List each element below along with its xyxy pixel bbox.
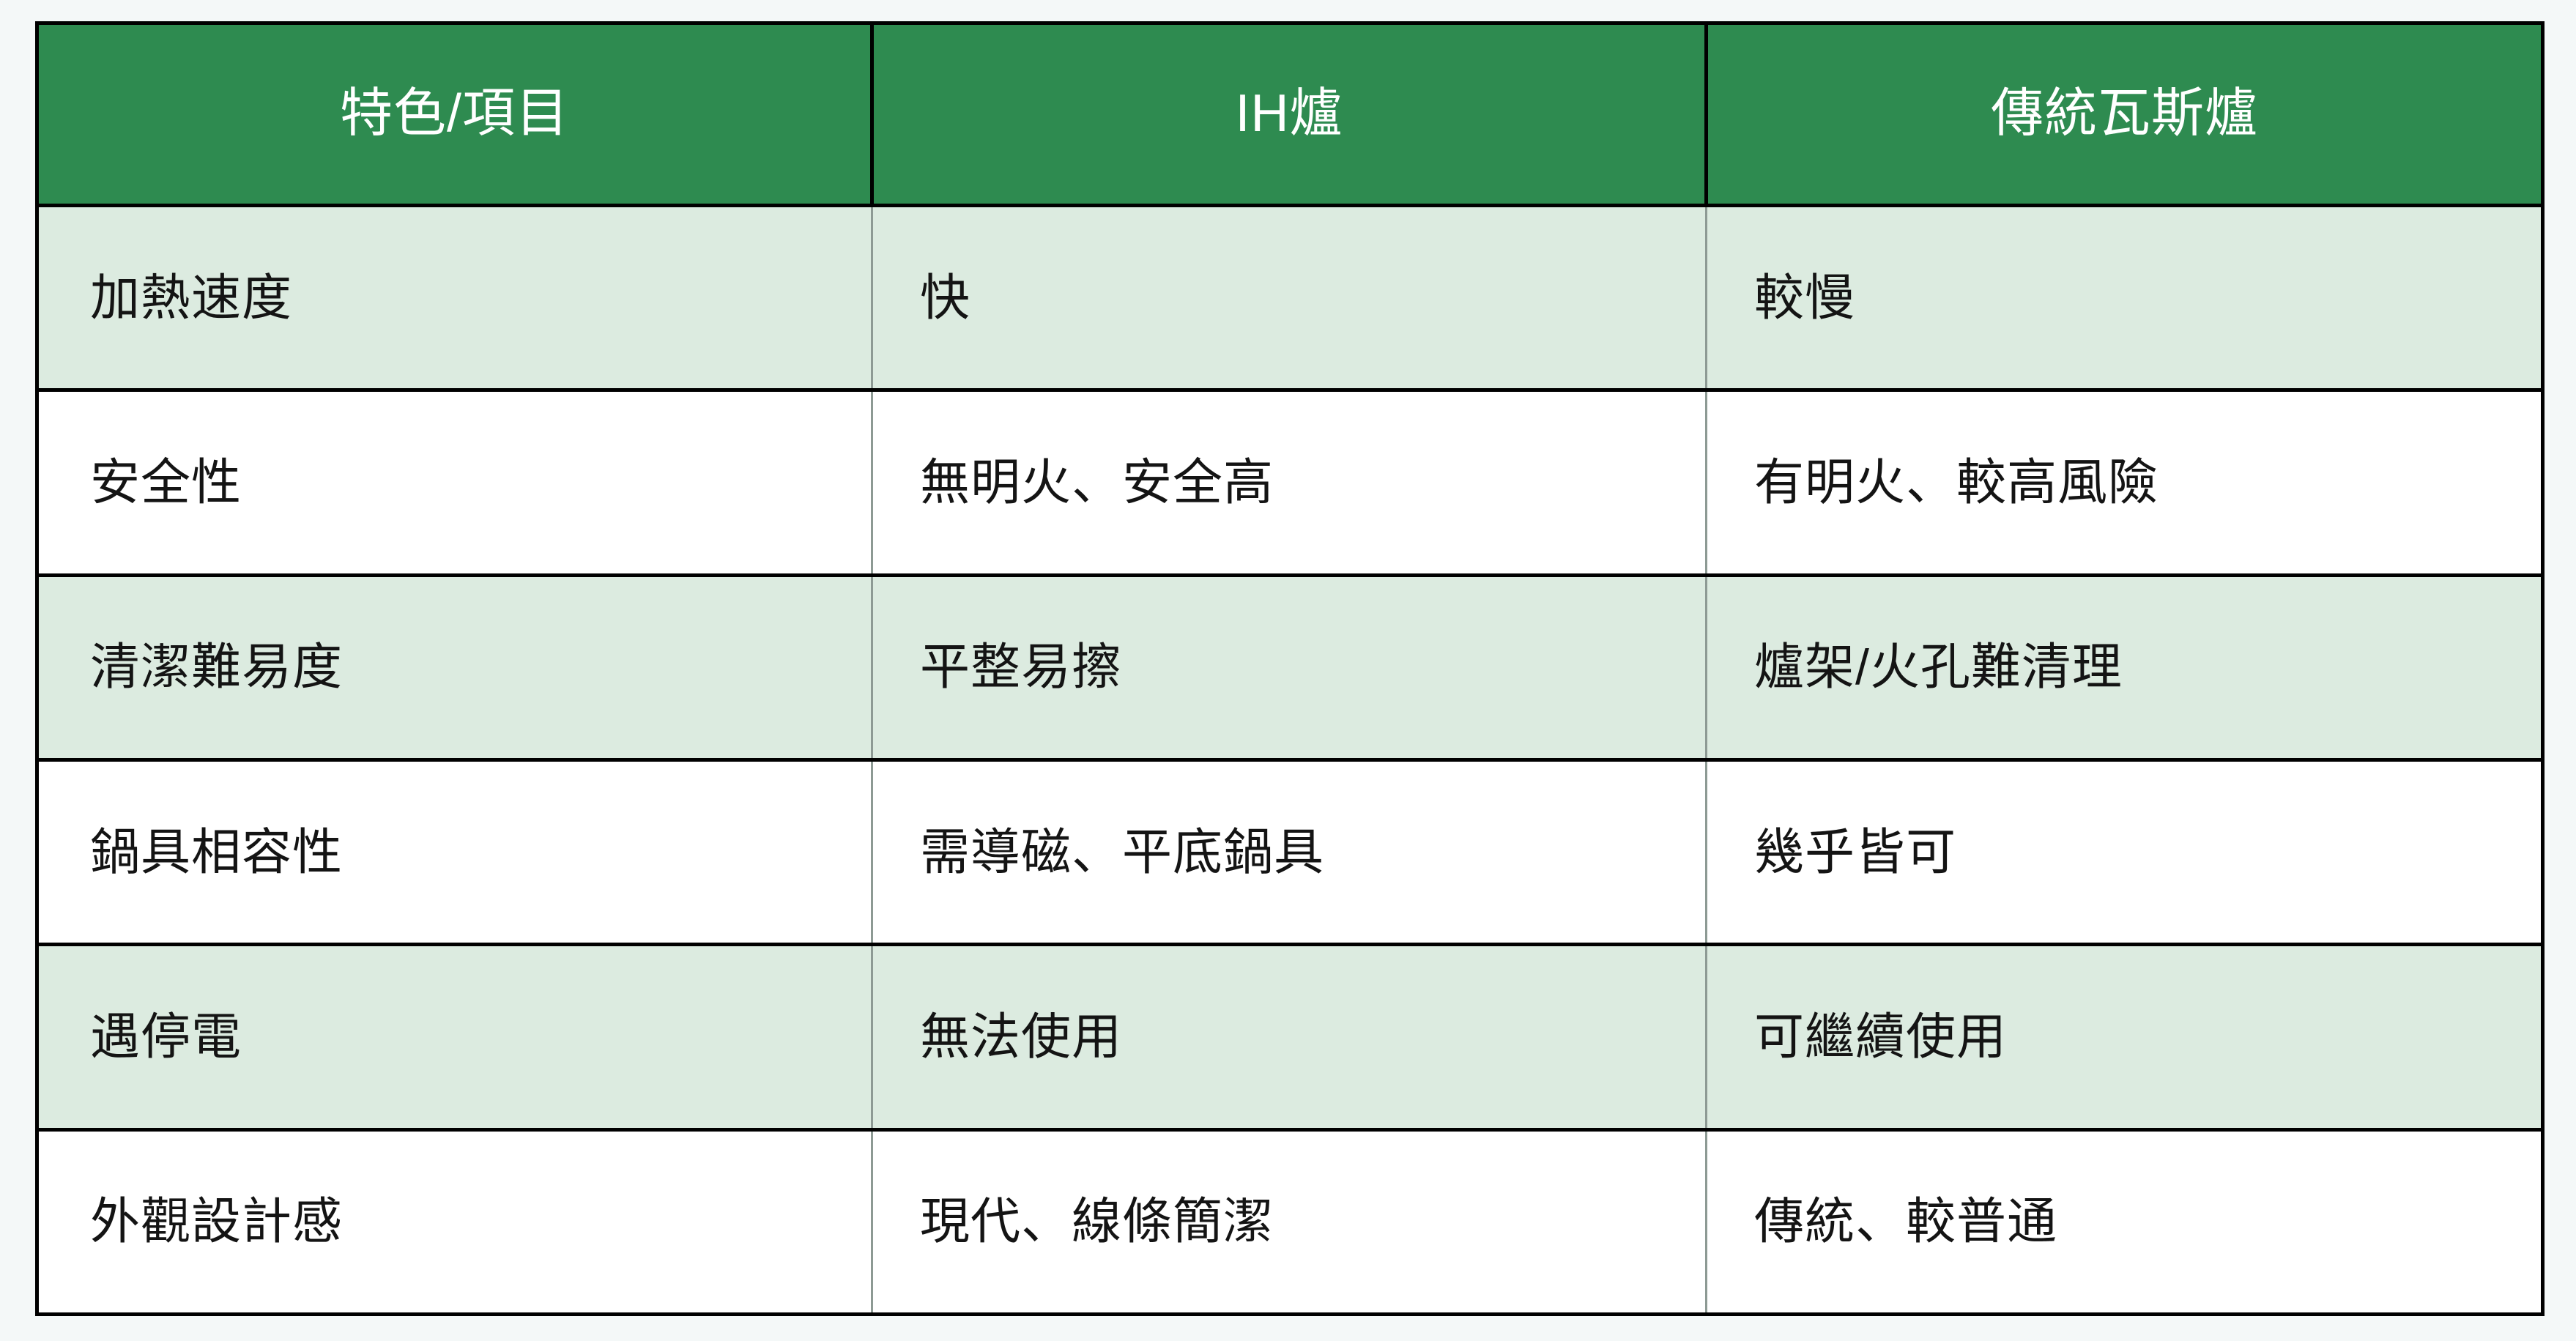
cell-gas: 爐架/火孔難清理 bbox=[1707, 575, 2543, 759]
cell-feature: 外觀設計感 bbox=[37, 1129, 872, 1314]
comparison-table: 特色/項目 IH爐 傳統瓦斯爐 加熱速度 快 較慢 安全性 無明火、安全高 有明… bbox=[35, 21, 2545, 1316]
cell-gas: 幾乎皆可 bbox=[1707, 759, 2543, 944]
cell-ih: 平整易擦 bbox=[872, 575, 1707, 759]
table-row: 鍋具相容性 需導磁、平底鍋具 幾乎皆可 bbox=[37, 759, 2543, 944]
column-header-ih: IH爐 bbox=[872, 23, 1707, 206]
column-header-feature: 特色/項目 bbox=[37, 23, 872, 206]
cell-gas: 較慢 bbox=[1707, 206, 2543, 390]
cell-feature: 加熱速度 bbox=[37, 206, 872, 390]
table-row: 外觀設計感 現代、線條簡潔 傳統、較普通 bbox=[37, 1129, 2543, 1314]
column-header-gas: 傳統瓦斯爐 bbox=[1707, 23, 2543, 206]
cell-feature: 遇停電 bbox=[37, 945, 872, 1129]
table-row: 加熱速度 快 較慢 bbox=[37, 206, 2543, 390]
table-row: 遇停電 無法使用 可繼續使用 bbox=[37, 945, 2543, 1129]
cell-ih: 快 bbox=[872, 206, 1707, 390]
table-header: 特色/項目 IH爐 傳統瓦斯爐 bbox=[37, 23, 2543, 206]
cell-gas: 可繼續使用 bbox=[1707, 945, 2543, 1129]
cell-ih: 現代、線條簡潔 bbox=[872, 1129, 1707, 1314]
table-header-row: 特色/項目 IH爐 傳統瓦斯爐 bbox=[37, 23, 2543, 206]
cell-feature: 鍋具相容性 bbox=[37, 759, 872, 944]
cell-ih: 無法使用 bbox=[872, 945, 1707, 1129]
cell-gas: 有明火、較高風險 bbox=[1707, 390, 2543, 575]
table-row: 安全性 無明火、安全高 有明火、較高風險 bbox=[37, 390, 2543, 575]
cell-ih: 無明火、安全高 bbox=[872, 390, 1707, 575]
comparison-table-container: 特色/項目 IH爐 傳統瓦斯爐 加熱速度 快 較慢 安全性 無明火、安全高 有明… bbox=[35, 21, 2541, 1316]
table-row: 清潔難易度 平整易擦 爐架/火孔難清理 bbox=[37, 575, 2543, 759]
cell-feature: 清潔難易度 bbox=[37, 575, 872, 759]
cell-gas: 傳統、較普通 bbox=[1707, 1129, 2543, 1314]
table-body: 加熱速度 快 較慢 安全性 無明火、安全高 有明火、較高風險 清潔難易度 平整易… bbox=[37, 206, 2543, 1315]
cell-feature: 安全性 bbox=[37, 390, 872, 575]
cell-ih: 需導磁、平底鍋具 bbox=[872, 759, 1707, 944]
